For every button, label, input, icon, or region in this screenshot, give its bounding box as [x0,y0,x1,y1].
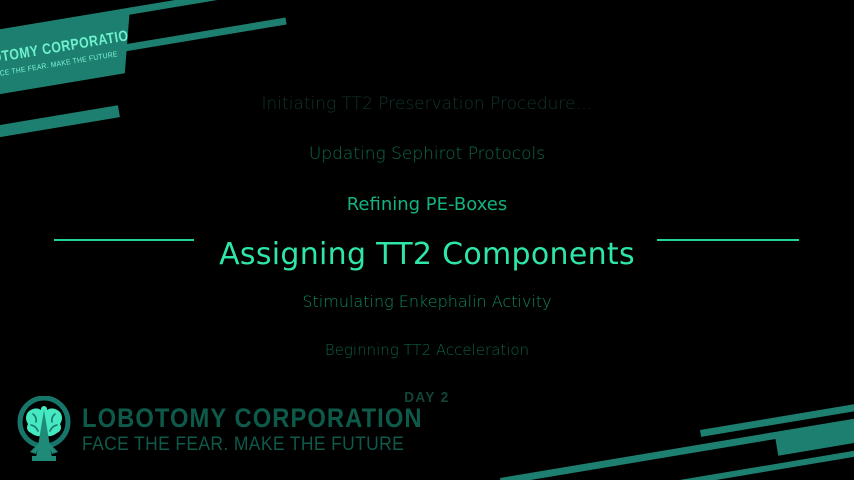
divider-line-right [657,239,799,241]
brand-logo: LOBOTOMY CORPORATION FACE THE FEAR. MAKE… [14,396,469,464]
loading-screen: LOBOTOMY CORPORATION FACE THE FEAR. MAKE… [0,0,854,480]
loading-item-5: Beginning TT2 Acceleration [0,341,854,359]
loading-item-2: Refining PE-Boxes [0,194,854,215]
loading-item-4: Stimulating Enkephalin Activity [0,292,854,311]
logo-tagline: FACE THE FEAR. MAKE THE FUTURE [82,434,438,456]
logo-title: LOBOTOMY CORPORATION [82,404,423,432]
corner-badge: LOBOTOMY CORPORATION FACE THE FEAR. MAKE… [0,10,130,100]
loading-item-0: Initiating TT2 Preservation Procedure… [0,94,854,114]
divider-line-left [54,239,194,241]
brain-tree-logo-icon [14,396,74,464]
decorative-stripe-top-3 [0,105,120,142]
loading-item-1: Updating Sephirot Protocols [0,144,854,164]
loading-item-active: Assigning TT2 Components [0,237,854,272]
